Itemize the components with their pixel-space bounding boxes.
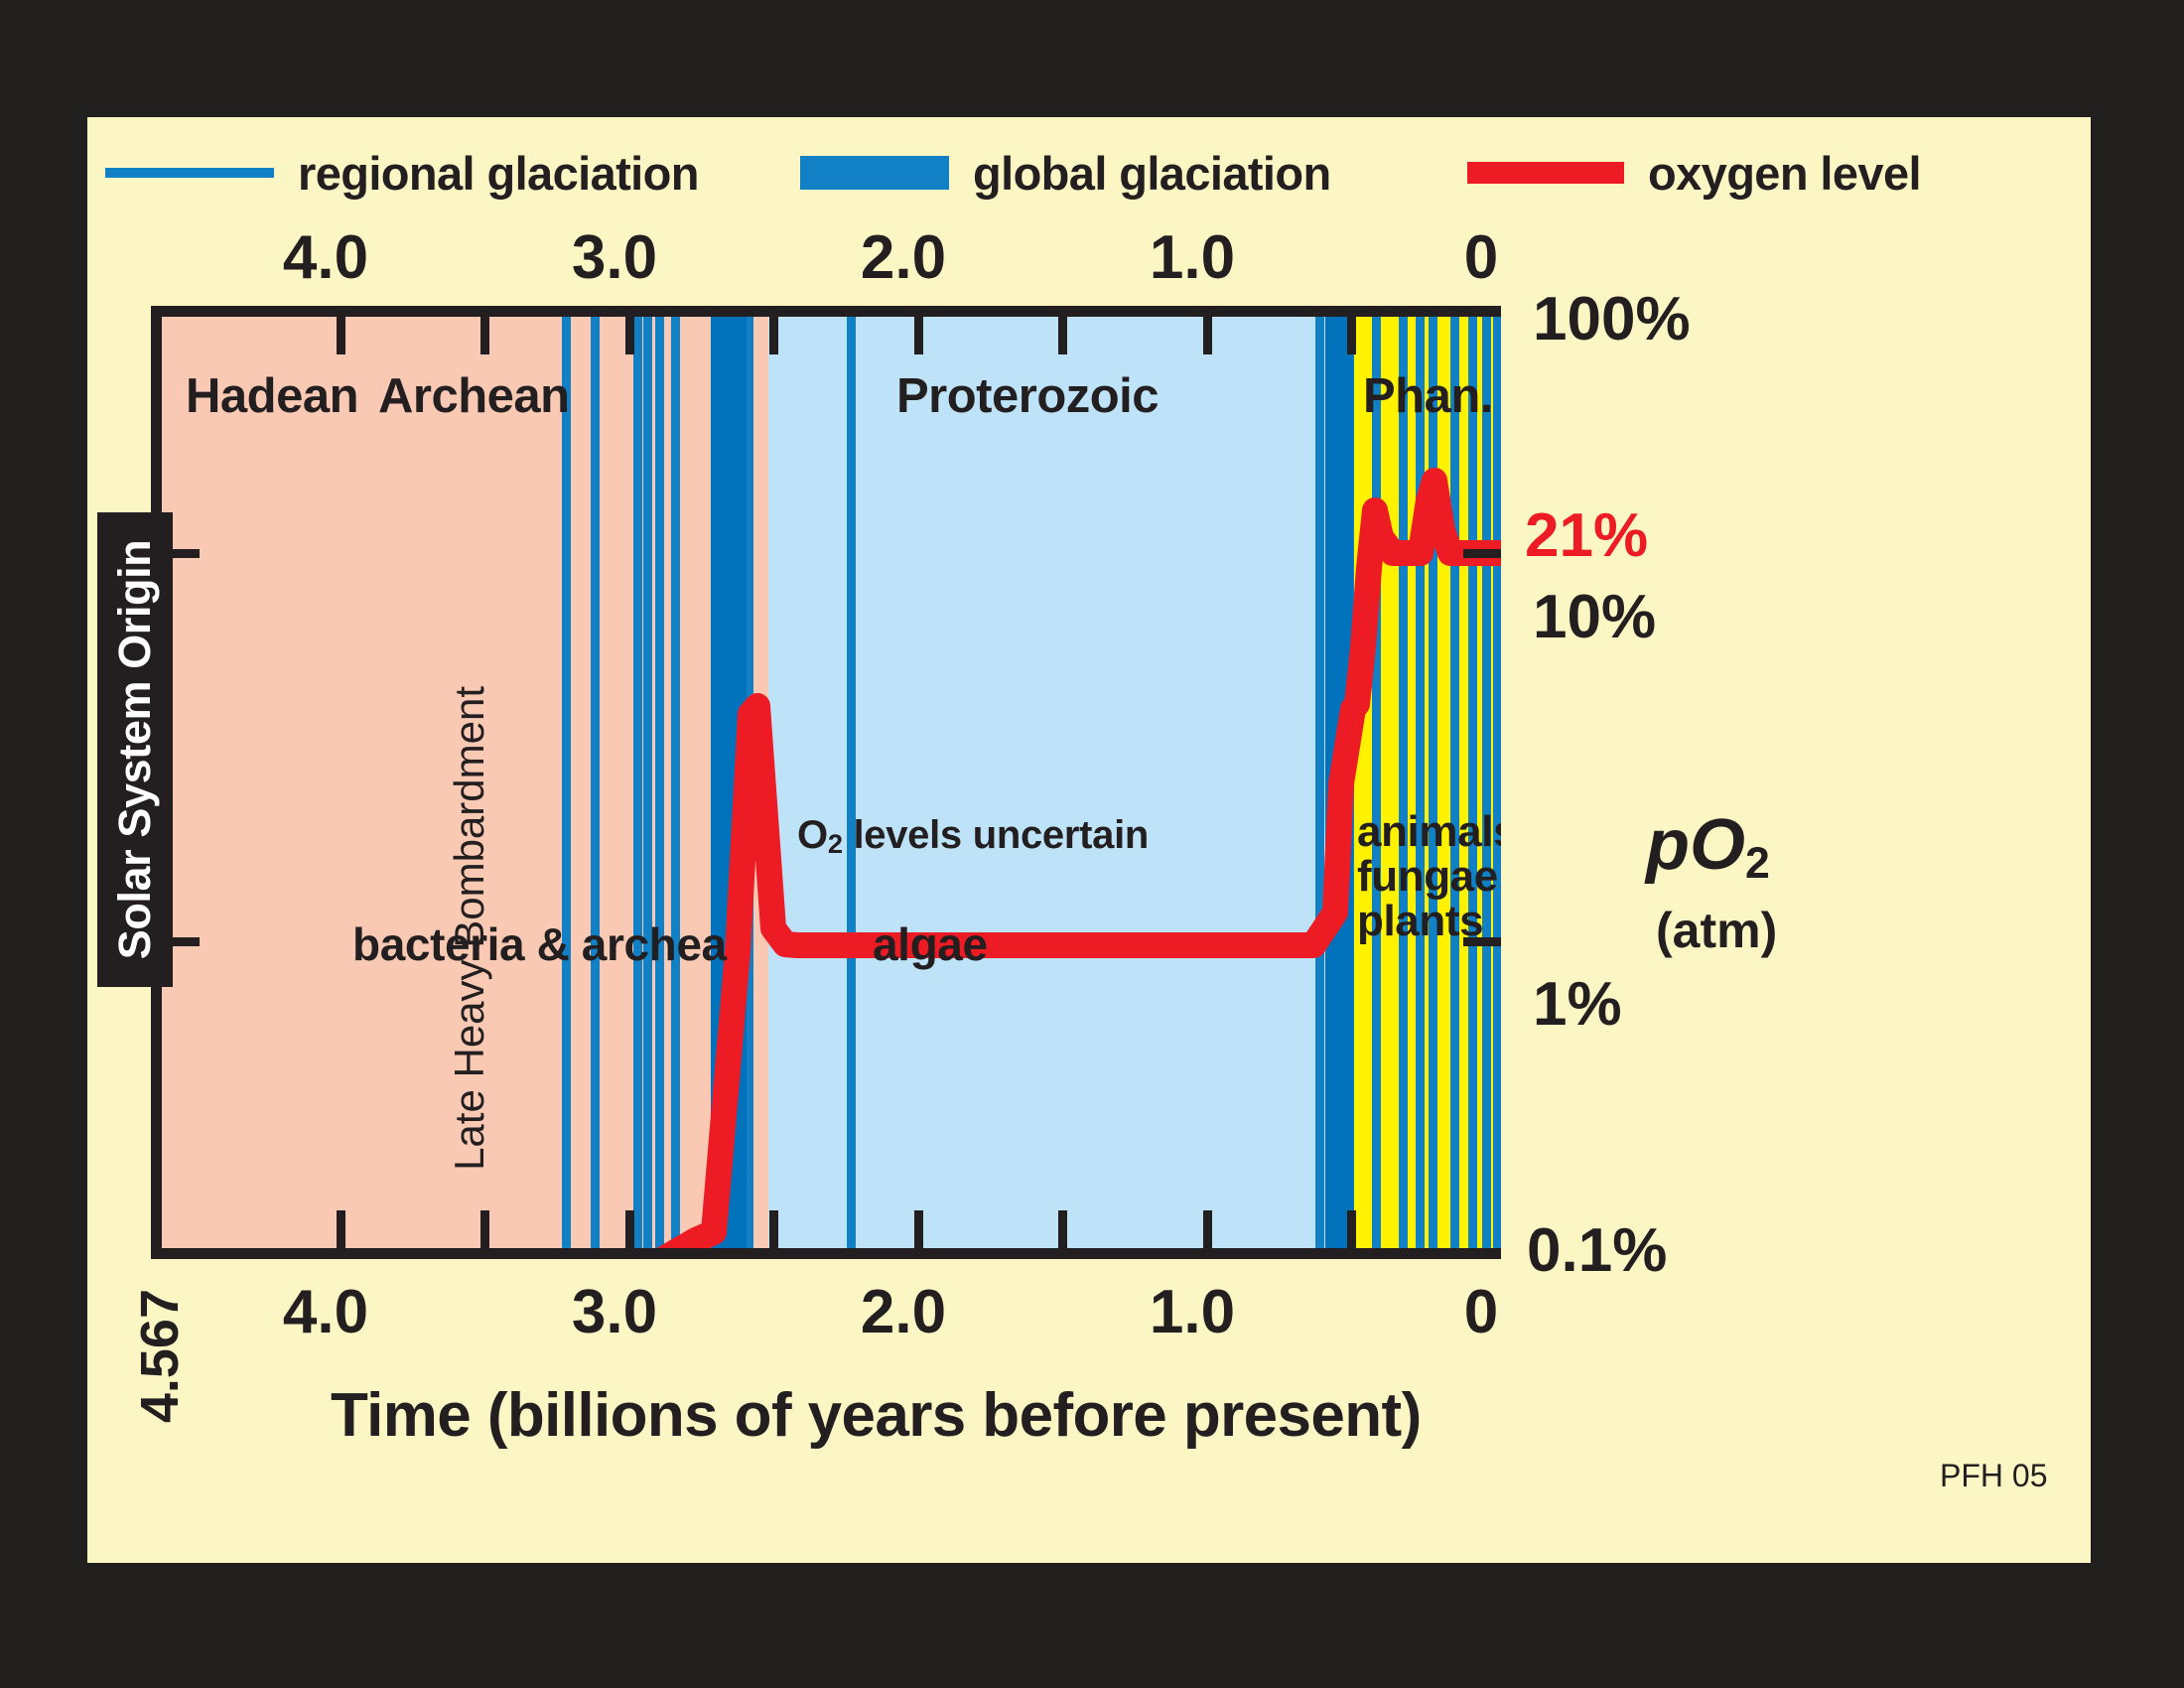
top-tick-4 (337, 317, 345, 354)
annotation-late-heavy-bombardment: Late Heavy Bombardment (446, 686, 493, 1171)
plot-inner: Hadean Archean Proterozoic Phan. bacteri… (162, 317, 1501, 1248)
global-glaciation-swatch-icon (800, 156, 949, 190)
top-tick-label-1: 1.0 (1150, 222, 1235, 293)
bottom-tick-3-5 (480, 1210, 489, 1248)
life-label-plants: plants (1357, 900, 1501, 944)
y-axis-title-po2: pO2 (1646, 804, 1770, 889)
solar-system-origin-tag: Solar System Origin (97, 512, 173, 987)
eon-label-phanerozoic: Phan. (1363, 368, 1493, 424)
plot-area: Hadean Archean Proterozoic Phan. bacteri… (151, 306, 1501, 1259)
y-tick-label-100-percent: 100% (1533, 284, 1691, 354)
legend-label-global-glaciation: global glaciation (973, 146, 1331, 201)
bottom-tick-2-5 (769, 1210, 778, 1248)
bottom-tick-label-1: 1.0 (1150, 1277, 1235, 1347)
eon-label-archean: Archean (378, 368, 570, 424)
top-tick-3-5 (480, 317, 489, 354)
legend-item-oxygen-level[interactable]: oxygen level (1467, 133, 1921, 212)
x-axis-title: Time (billions of years before present) (331, 1380, 1422, 1451)
top-tick-label-2: 2.0 (861, 222, 946, 293)
top-tick-1-5 (1058, 317, 1067, 354)
bottom-tick-label-2: 2.0 (861, 1277, 946, 1347)
x-axis-origin-label: 4.567 (129, 1289, 191, 1423)
solar-system-origin-label: Solar System Origin (109, 540, 161, 960)
regional-glaciation-swatch-icon (105, 168, 274, 178)
eon-label-proterozoic: Proterozoic (896, 368, 1159, 424)
legend-item-regional-glaciation[interactable]: regional glaciation (105, 133, 699, 212)
life-label-bacteria-archea: bacteria & archea (352, 917, 727, 971)
life-label-algae: algae (873, 917, 988, 971)
top-tick-2 (914, 317, 923, 354)
y-highlight-label-21-percent: 21% (1525, 500, 1648, 571)
o2-rest: levels uncertain (843, 813, 1149, 857)
legend: regional glaciation global glaciation ox… (87, 133, 2091, 212)
o2-subscript: 2 (828, 828, 843, 859)
bottom-tick-1-5 (1058, 1210, 1067, 1248)
po2-subscript: 2 (1745, 839, 1770, 888)
legend-label-regional-glaciation: regional glaciation (298, 146, 699, 201)
bottom-axis-tick-labels: 4.0 3.0 2.0 1.0 0 (87, 1277, 2091, 1348)
y-tick-label-10-percent: 10% (1533, 582, 1656, 652)
top-tick-1 (1203, 317, 1212, 354)
bottom-tick-0-5 (1347, 1210, 1356, 1248)
bottom-tick-label-0: 0 (1464, 1277, 1498, 1347)
top-tick-2-5 (769, 317, 778, 354)
life-label-fungae: fungae (1357, 855, 1501, 900)
figure-credit: PFH 05 (1940, 1458, 2047, 1494)
legend-label-oxygen-level: oxygen level (1648, 146, 1921, 201)
right-tick-10-percent (1463, 549, 1501, 558)
bottom-tick-3 (625, 1210, 634, 1248)
legend-item-global-glaciation[interactable]: global glaciation (800, 133, 1331, 212)
oxygen-level-curve (162, 317, 1501, 1248)
y-axis-units-atm: (atm) (1656, 902, 1777, 959)
figure-panel: regional glaciation global glaciation ox… (87, 117, 2091, 1563)
bottom-tick-4 (337, 1210, 345, 1248)
top-tick-label-4: 4.0 (283, 222, 368, 293)
bottom-tick-label-3: 3.0 (572, 1277, 657, 1347)
bottom-tick-2 (914, 1210, 923, 1248)
annotation-o2-levels-uncertain: O2 levels uncertain (797, 813, 1149, 860)
y-tick-label-0-1-percent: 0.1% (1527, 1215, 1667, 1286)
po2-p: pO (1646, 805, 1745, 885)
life-label-animals: animals (1357, 810, 1501, 855)
top-tick-0-5 (1347, 317, 1356, 354)
o2-text: O (797, 813, 828, 857)
y-tick-label-1-percent: 1% (1533, 969, 1622, 1040)
figure-frame: regional glaciation global glaciation ox… (0, 0, 2184, 1688)
eon-label-hadean: Hadean (186, 368, 358, 424)
top-tick-label-0: 0 (1464, 222, 1498, 293)
life-label-phanerozoic-group: animals fungae plants (1357, 810, 1501, 944)
top-axis-tick-labels: 4.0 3.0 2.0 1.0 0 (87, 222, 2091, 294)
top-tick-label-3: 3.0 (572, 222, 657, 293)
bottom-tick-label-4: 4.0 (283, 1277, 368, 1347)
bottom-tick-1 (1203, 1210, 1212, 1248)
top-tick-3 (625, 317, 634, 354)
oxygen-level-swatch-icon (1467, 162, 1624, 184)
